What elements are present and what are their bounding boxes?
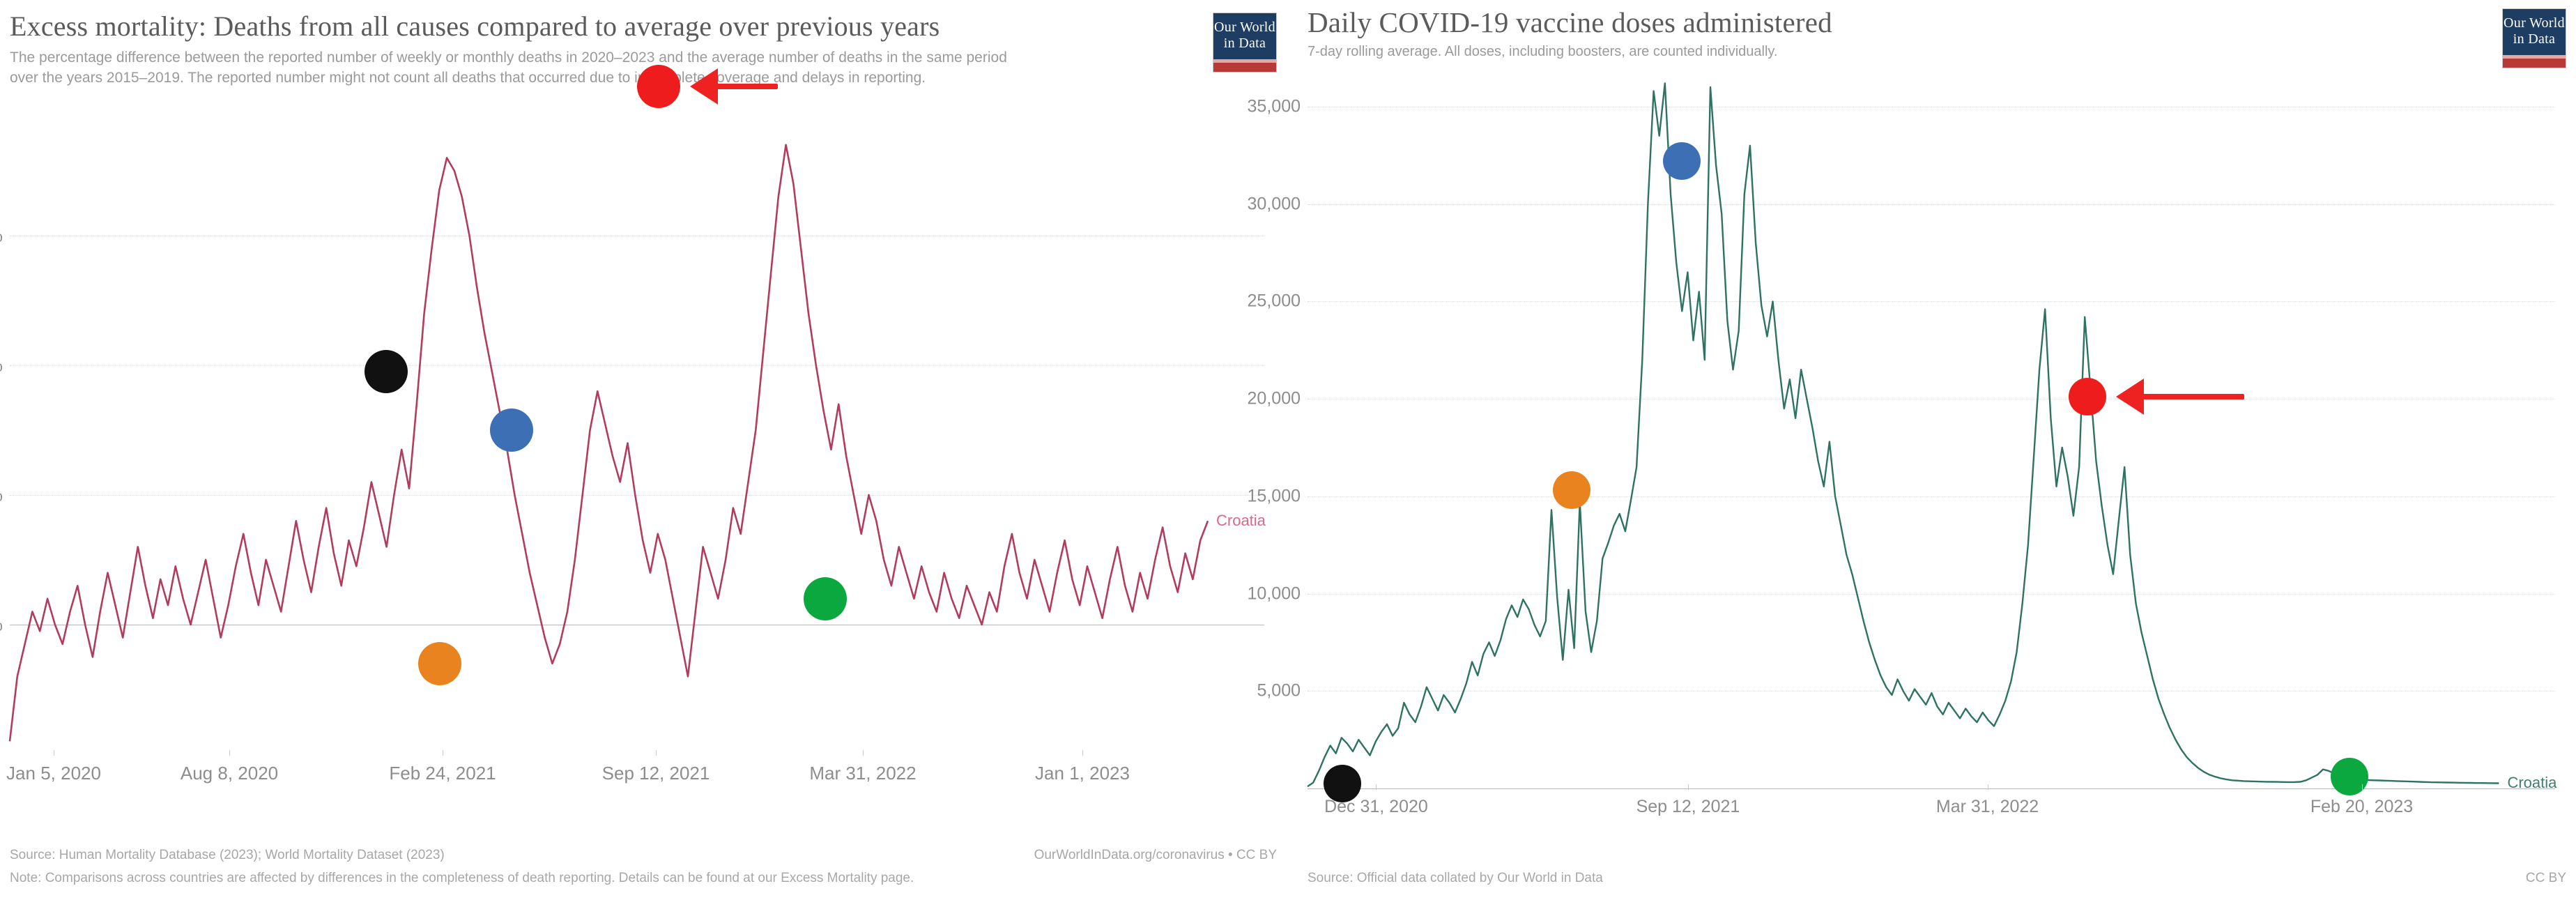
annotation-green-dot[interactable] xyxy=(804,577,847,620)
left-chart-title: Excess mortality: Deaths from all causes… xyxy=(10,10,986,43)
left-note-text: Note: Comparisons across countries are a… xyxy=(10,868,1097,889)
annotation-blue-dot[interactable] xyxy=(490,409,533,452)
y-tick-label: 5,000 xyxy=(1257,681,1301,701)
y-tick-label: 0% xyxy=(0,614,3,636)
left-plot-area[interactable]: 0%20%40%60% Jan 5, 2020Aug 8, 2020Feb 24… xyxy=(10,106,1264,754)
x-tick-label: Jan 1, 2023 xyxy=(1035,763,1130,784)
y-tick-label: 20% xyxy=(0,485,3,506)
annotation-red-dot[interactable] xyxy=(2069,378,2106,415)
owid-logo-line2: in Data xyxy=(2503,31,2566,47)
x-tick-label: Sep 12, 2021 xyxy=(602,763,710,784)
right-chart-footer: Source: Official data collated by Our Wo… xyxy=(1308,868,2566,889)
series-polyline xyxy=(1308,83,2499,786)
x-tick xyxy=(1376,784,1377,790)
left-source-text: Source: Human Mortality Database (2023);… xyxy=(10,845,445,866)
annotation-black-dot[interactable] xyxy=(365,350,408,393)
annotation-red-dot[interactable] xyxy=(637,65,680,108)
x-tick-label: Dec 31, 2020 xyxy=(1324,797,1428,817)
left-license-text[interactable]: OurWorldInData.org/coronavirus • CC BY xyxy=(1034,845,1277,866)
left-series-label: Croatia xyxy=(1216,512,1266,530)
x-tick xyxy=(54,750,54,756)
x-tick xyxy=(2362,784,2363,790)
series-polyline xyxy=(10,145,1208,742)
y-tick-label: 30,000 xyxy=(1248,194,1301,214)
right-series-label: Croatia xyxy=(2507,774,2556,792)
left-chart-subtitle: The percentage difference between the re… xyxy=(10,47,1020,88)
y-tick-label: 35,000 xyxy=(1248,96,1301,116)
x-tick xyxy=(863,750,864,756)
y-tick-label: 25,000 xyxy=(1248,291,1301,312)
arrow-shaft xyxy=(714,84,778,89)
owid-logo-line1: Our World xyxy=(2503,15,2566,31)
right-plot-area[interactable]: 5,00010,00015,00020,00025,00030,00035,00… xyxy=(1308,77,2555,788)
annotation-green-dot[interactable] xyxy=(2331,758,2368,795)
dual-chart-screenshot: Excess mortality: Deaths from all causes… xyxy=(0,0,2576,900)
x-tick-label: Aug 8, 2020 xyxy=(181,763,278,784)
x-tick-label: Feb 20, 2023 xyxy=(2310,797,2413,817)
x-axis-baseline xyxy=(1308,788,2555,789)
x-tick xyxy=(1082,750,1083,756)
x-tick xyxy=(656,750,657,756)
owid-logo-line2: in Data xyxy=(1213,36,1276,52)
owid-logo-left[interactable]: Our World in Data xyxy=(1213,13,1277,73)
x-tick xyxy=(1988,784,1988,790)
right-series-line xyxy=(1308,77,2555,788)
x-tick xyxy=(229,750,230,756)
x-tick-label: Mar 31, 2022 xyxy=(809,763,916,784)
owid-logo-accent-bar xyxy=(2503,59,2566,68)
owid-logo-line1: Our World xyxy=(1213,20,1276,36)
arrow-shaft xyxy=(2140,394,2244,399)
x-tick-label: Sep 12, 2021 xyxy=(1636,797,1740,817)
annotation-orange-dot[interactable] xyxy=(418,642,461,685)
annotation-blue-dot[interactable] xyxy=(1663,142,1701,180)
right-chart-subtitle: 7-day rolling average. All doses, includ… xyxy=(1308,42,2318,62)
vaccine-doses-chart-panel: Daily COVID-19 vaccine doses administere… xyxy=(1289,0,2576,900)
left-chart-footer: Source: Human Mortality Database (2023);… xyxy=(10,845,1277,889)
y-tick-label: 40% xyxy=(0,355,3,376)
left-series-line xyxy=(10,106,1264,754)
owid-logo-accent-bar xyxy=(1213,63,1276,72)
x-tick-label: Feb 24, 2021 xyxy=(389,763,496,784)
y-tick-label: 15,000 xyxy=(1248,486,1301,506)
right-source-text: Source: Official data collated by Our Wo… xyxy=(1308,868,1603,889)
x-tick-label: Mar 31, 2022 xyxy=(1936,797,2039,817)
x-tick-label: Jan 5, 2020 xyxy=(6,763,101,784)
x-tick xyxy=(1688,784,1689,790)
excess-mortality-chart-panel: Excess mortality: Deaths from all causes… xyxy=(0,0,1289,900)
y-tick-label: 20,000 xyxy=(1248,389,1301,409)
y-tick-label: 60% xyxy=(0,225,3,247)
annotation-orange-dot[interactable] xyxy=(1553,471,1590,509)
y-tick-label: 10,000 xyxy=(1248,584,1301,604)
right-chart-title: Daily COVID-19 vaccine doses administere… xyxy=(1308,6,2353,39)
right-license-text[interactable]: CC BY xyxy=(2526,868,2566,889)
right-chart-header: Daily COVID-19 vaccine doses administere… xyxy=(1308,6,2566,62)
owid-logo-right[interactable]: Our World in Data xyxy=(2502,8,2566,68)
x-tick xyxy=(443,750,443,756)
